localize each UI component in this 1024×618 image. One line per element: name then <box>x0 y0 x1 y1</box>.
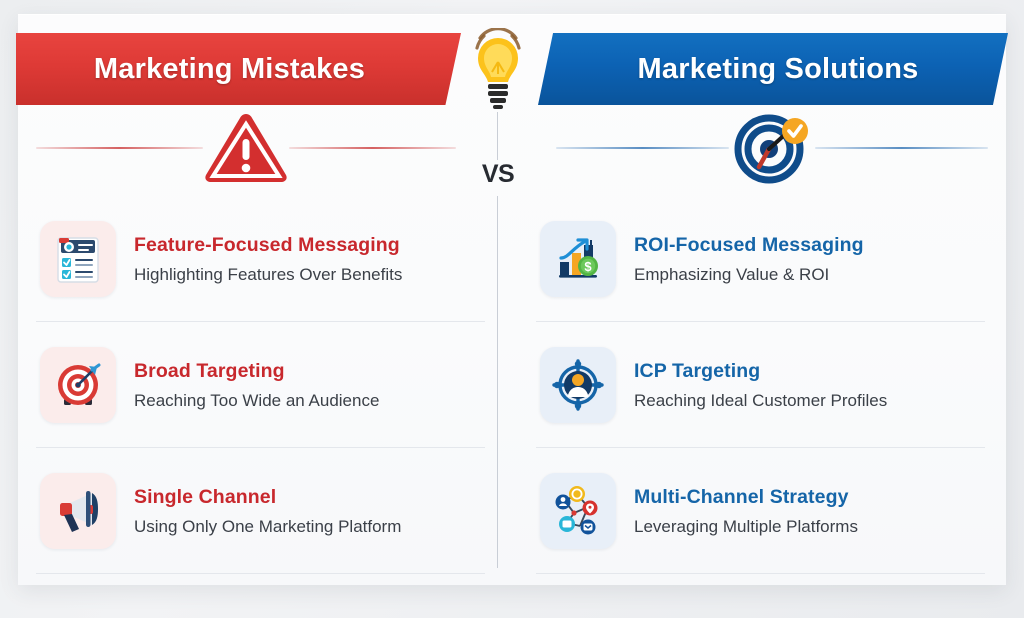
list-item-text: Multi-Channel Strategy Leveraging Multip… <box>634 486 858 537</box>
crosshair-person-icon <box>540 347 616 423</box>
list-item-subtitle: Reaching Too Wide an Audience <box>134 391 379 411</box>
list-item-subtitle: Reaching Ideal Customer Profiles <box>634 391 887 411</box>
list-item-title: Multi-Channel Strategy <box>634 486 858 509</box>
target-check-icon <box>729 112 815 184</box>
list-item[interactable]: Multi-Channel Strategy Leveraging Multip… <box>534 448 989 574</box>
list-item-title: Broad Targeting <box>134 360 379 383</box>
list-item[interactable]: Feature-Focused Messaging Highlighting F… <box>34 196 489 322</box>
megaphone-icon <box>40 473 116 549</box>
list-item-text: Feature-Focused Messaging Highlighting F… <box>134 234 402 285</box>
checklist-document-icon <box>40 221 116 297</box>
svg-text:$: $ <box>584 259 592 274</box>
mistakes-banner: Marketing Mistakes <box>16 33 461 105</box>
list-item[interactable]: Broad Targeting Reaching Too Wide an Aud… <box>34 322 489 448</box>
list-item-title: Single Channel <box>134 486 401 509</box>
mistakes-hero-row <box>36 112 456 184</box>
list-item-text: ICP Targeting Reaching Ideal Customer Pr… <box>634 360 887 411</box>
list-item-subtitle: Emphasizing Value & ROI <box>634 265 864 285</box>
hero-rule-right <box>289 147 456 149</box>
solutions-banner: Marketing Solutions <box>538 33 1008 105</box>
solutions-column: $ ROI-Focused Messaging Emphasizing Valu… <box>534 196 989 574</box>
list-item-subtitle: Highlighting Features Over Benefits <box>134 265 402 285</box>
mistakes-banner-label: Marketing Mistakes <box>94 53 365 86</box>
list-item-title: ROI-Focused Messaging <box>634 234 864 257</box>
growth-chart-dollar-icon: $ <box>540 221 616 297</box>
hero-rule-left <box>556 147 729 149</box>
network-nodes-icon <box>540 473 616 549</box>
list-item[interactable]: Single Channel Using Only One Marketing … <box>34 448 489 574</box>
list-item[interactable]: $ ROI-Focused Messaging Emphasizing Valu… <box>534 196 989 322</box>
lightbulb-icon <box>466 28 530 110</box>
list-item-title: ICP Targeting <box>634 360 887 383</box>
infographic-stage: Marketing Mistakes Marketing Solutions <box>0 0 1024 618</box>
solutions-banner-label: Marketing Solutions <box>638 53 919 86</box>
list-item-subtitle: Leveraging Multiple Platforms <box>634 517 858 537</box>
hero-rule-left <box>36 147 203 149</box>
list-item-text: ROI-Focused Messaging Emphasizing Value … <box>634 234 864 285</box>
dartboard-icon <box>40 347 116 423</box>
mistakes-column: Feature-Focused Messaging Highlighting F… <box>34 196 489 574</box>
center-divider-top <box>497 112 498 160</box>
list-item-title: Feature-Focused Messaging <box>134 234 402 257</box>
hero-rule-right <box>815 147 988 149</box>
list-item-text: Single Channel Using Only One Marketing … <box>134 486 401 537</box>
solutions-hero-row <box>556 112 988 184</box>
list-item-subtitle: Using Only One Marketing Platform <box>134 517 401 537</box>
warning-triangle-icon <box>203 112 289 184</box>
list-item-text: Broad Targeting Reaching Too Wide an Aud… <box>134 360 379 411</box>
vs-label: VS <box>473 160 523 189</box>
center-divider-bottom <box>497 196 498 568</box>
list-item[interactable]: ICP Targeting Reaching Ideal Customer Pr… <box>534 322 989 448</box>
